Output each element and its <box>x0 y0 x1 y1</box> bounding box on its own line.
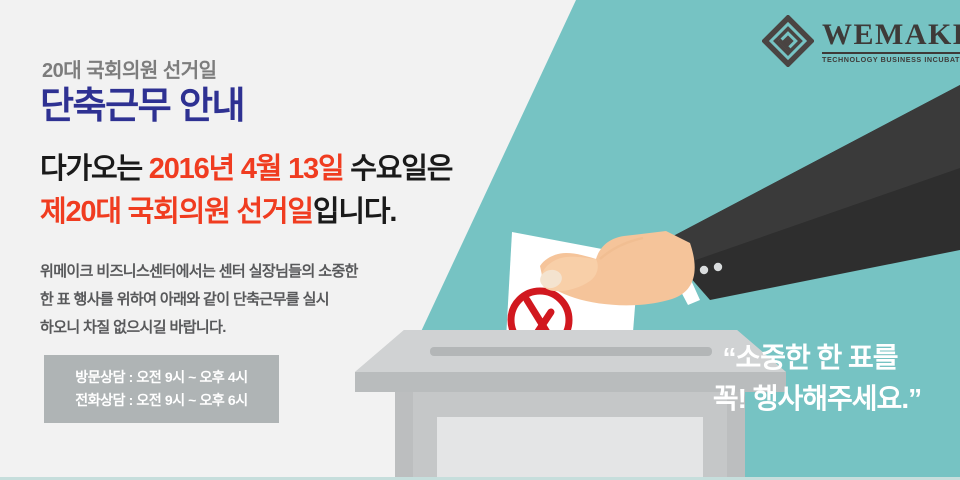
wemake-diamond-mark <box>762 15 814 67</box>
hours-visit: 방문상담 : 오전 9시 ~ 오후 4시 <box>44 366 279 389</box>
lead-line-2: 제20대 국회의원 선거일입니다. <box>40 191 452 234</box>
election-date: 2016년 4월 13일 <box>149 153 344 185</box>
quote-line-1: “소중한 한 표를 <box>676 338 944 379</box>
call-to-action-quote: “소중한 한 표를 꼭! 행사해주세요.” <box>676 338 944 419</box>
quote-line-2: 꼭! 행사해주세요.” <box>676 379 944 420</box>
logo-text-block: WEMAKE TECHNOLOGY BUSINESS INCUBATOR <box>822 18 960 63</box>
page-title: 단축근무 안내 <box>40 86 244 127</box>
election-notice-banner: WEMAKE TECHNOLOGY BUSINESS INCUBATOR 20대… <box>0 0 960 480</box>
lead-paragraph: 다가오는 2016년 4월 13일 수요일은 제20대 국회의원 선거일입니다. <box>40 148 452 234</box>
wemake-logo[interactable]: WEMAKE TECHNOLOGY BUSINESS INCUBATOR <box>762 10 952 72</box>
lead-line2-post: 입니다. <box>313 196 396 228</box>
consultation-hours-box: 방문상담 : 오전 9시 ~ 오후 4시 전화상담 : 오전 9시 ~ 오후 6… <box>44 355 279 423</box>
lead-line-1: 다가오는 2016년 4월 13일 수요일은 <box>40 148 452 191</box>
logo-tagline: TECHNOLOGY BUSINESS INCUBATOR <box>822 56 960 63</box>
lead-line1-post: 수요일은 <box>343 153 452 185</box>
lead-line1-pre: 다가오는 <box>40 153 149 185</box>
body-copy-line: 하오니 차질 없으시길 바랍니다. <box>40 314 358 342</box>
election-name: 제20대 국회의원 선거일 <box>40 196 313 228</box>
hours-phone: 전화상담 : 오전 9시 ~ 오후 6시 <box>44 389 279 412</box>
body-copy: 위메이크 비즈니스센터에서는 센터 실장님들의 소중한 한 표 행사를 위하여 … <box>40 258 358 341</box>
body-copy-line: 위메이크 비즈니스센터에서는 센터 실장님들의 소중한 <box>40 258 358 286</box>
body-copy-line: 한 표 행사를 위하여 아래와 같이 단축근무를 실시 <box>40 286 358 314</box>
logo-divider <box>822 52 960 54</box>
logo-wordmark: WEMAKE <box>822 20 960 50</box>
kicker-text: 20대 국회의원 선거일 <box>42 54 217 83</box>
